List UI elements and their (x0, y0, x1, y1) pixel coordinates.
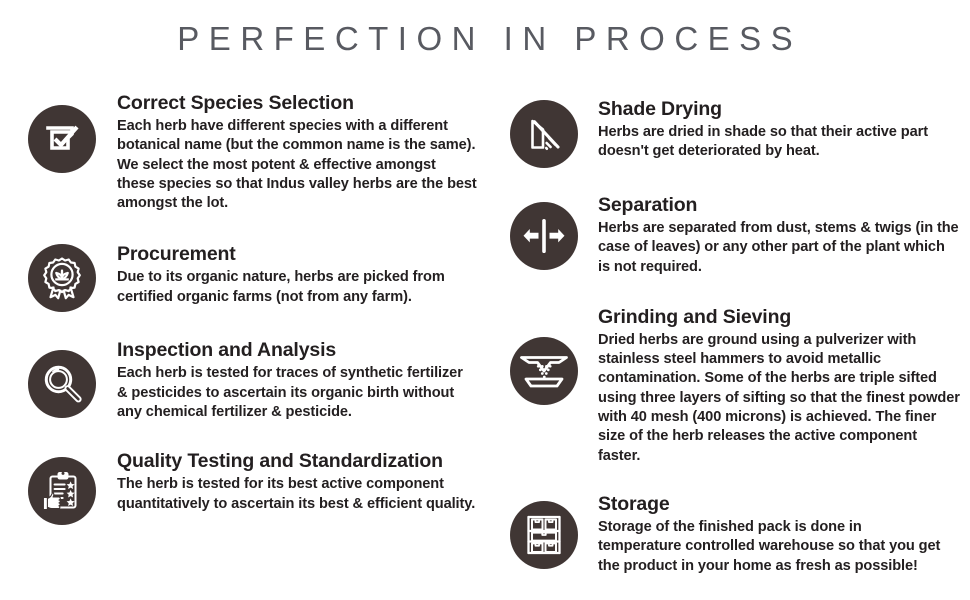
clipboard-stars-thumbsup-icon (28, 457, 96, 525)
process-step-correct-species-selection: Correct Species Selection Each herb have… (28, 92, 480, 213)
process-step-grinding-and-sieving: Grinding and Sieving Dried herbs are gro… (510, 306, 960, 466)
step-title: Procurement (117, 243, 480, 266)
step-description: Dried herbs are ground using a pulverize… (598, 331, 960, 466)
step-title: Quality Testing and Standardization (117, 450, 480, 473)
process-step-body: Grinding and Sieving Dried herbs are gro… (598, 306, 960, 466)
process-step-quality-testing-and-standardization: Quality Testing and Standardization The … (28, 450, 480, 518)
step-description: Due to its organic nature, herbs are pic… (117, 268, 480, 307)
process-column-right: Shade Drying Herbs are dried in shade so… (510, 92, 960, 576)
process-step-body: Storage Storage of the finished pack is … (598, 493, 960, 576)
step-title: Storage (598, 493, 960, 516)
step-description: Each herb is tested for traces of synthe… (117, 364, 477, 422)
step-description: The herb is tested for its best active c… (117, 475, 480, 514)
shade-panel-icon (510, 100, 578, 168)
process-step-body: Separation Herbs are separated from dust… (598, 194, 960, 277)
step-title: Correct Species Selection (117, 92, 480, 115)
process-step-body: Shade Drying Herbs are dried in shade so… (598, 98, 960, 166)
separation-arrows-icon (510, 202, 578, 270)
step-title: Grinding and Sieving (598, 306, 960, 329)
page-title: PERFECTION IN PROCESS (0, 20, 970, 58)
process-step-body: Inspection and Analysis Each herb is tes… (117, 339, 480, 422)
process-step-separation: Separation Herbs are separated from dust… (510, 194, 960, 277)
step-title: Shade Drying (598, 98, 960, 121)
process-step-body: Procurement Due to its organic nature, h… (117, 243, 480, 311)
process-step-body: Correct Species Selection Each herb have… (117, 92, 480, 213)
process-step-inspection-and-analysis: Inspection and Analysis Each herb is tes… (28, 339, 480, 422)
process-step-procurement: Procurement Due to its organic nature, h… (28, 243, 480, 311)
process-step-shade-drying: Shade Drying Herbs are dried in shade so… (510, 98, 960, 166)
step-description: Storage of the finished pack is done in … (598, 518, 948, 576)
step-description: Herbs are separated from dust, stems & t… (598, 219, 960, 277)
sieve-strainer-icon (510, 337, 578, 405)
process-column-left: Correct Species Selection Each herb have… (28, 92, 480, 518)
magnifying-glass-icon (28, 350, 96, 418)
organic-badge-leaf-icon (28, 244, 96, 312)
process-step-storage: Storage Storage of the finished pack is … (510, 493, 960, 576)
step-description: Herbs are dried in shade so that their a… (598, 123, 960, 162)
process-step-body: Quality Testing and Standardization The … (117, 450, 480, 518)
step-title: Inspection and Analysis (117, 339, 480, 362)
warehouse-shelf-boxes-icon (510, 501, 578, 569)
step-title: Separation (598, 194, 960, 217)
step-description: Each herb have different species with a … (117, 117, 477, 213)
checkbox-check-icon (28, 105, 96, 173)
